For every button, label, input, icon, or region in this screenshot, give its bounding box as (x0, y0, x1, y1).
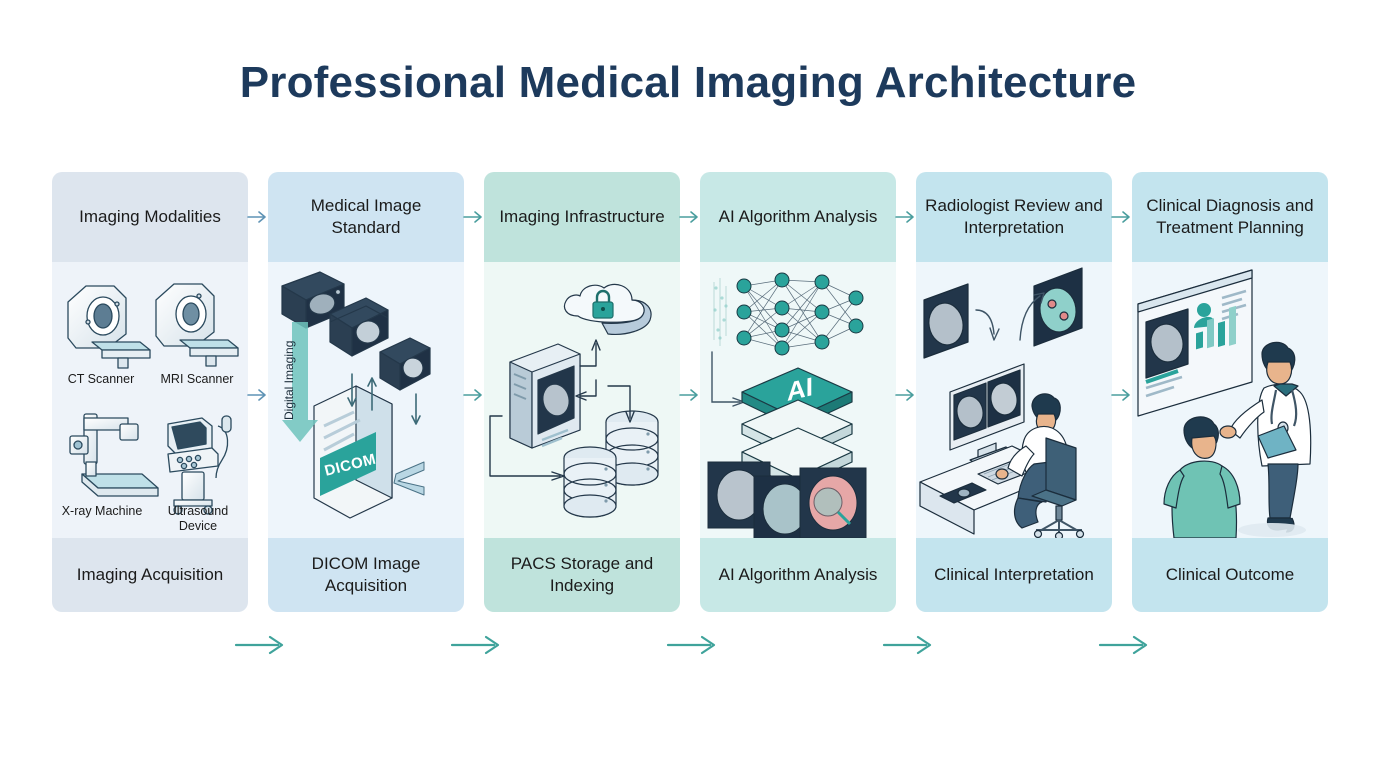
stage-header-ai-algorithm-analysis: AI Algorithm Analysis (700, 172, 896, 262)
bottom-arrow-3 (664, 628, 724, 662)
stage-footer-imaging-acquisition: Imaging Acquisition (52, 538, 248, 612)
arrow-right-icon (678, 206, 702, 228)
diagram-canvas: Professional Medical Imaging Architectur… (0, 0, 1376, 768)
stage-footer-pacs-storage: PACS Storage and Indexing (484, 538, 680, 612)
stage-footer-dicom-image-acquisition: DICOM Image Acquisition (268, 538, 464, 612)
stage-header-imaging-modalities: Imaging Modalities (52, 172, 248, 262)
dicom-artwork (268, 262, 464, 538)
connector-4-5 (896, 172, 916, 612)
arrow-right-icon (246, 384, 270, 406)
stage-footer-clinical-outcome: Clinical Outcome (1132, 538, 1328, 612)
stage-illustration-clinical-outcome (1132, 262, 1328, 538)
stage-illustration-ai: AI (700, 262, 896, 538)
arrow-right-icon (1110, 384, 1134, 406)
stage-illustration-radiologist (916, 262, 1112, 538)
stage-column-imaging-modalities[interactable]: Imaging Modalities (52, 172, 248, 612)
device-label-ultrasound-device: Ultrasound Device (152, 504, 244, 534)
bottom-progress-arrows (52, 628, 1326, 668)
connector-3-4 (680, 172, 700, 612)
arrow-right-icon (894, 384, 918, 406)
arrow-right-icon (1110, 206, 1134, 228)
stage-column-radiologist-review[interactable]: Radiologist Review and Interpretation (916, 172, 1112, 612)
stage-column-imaging-infrastructure[interactable]: Imaging Infrastructure (484, 172, 680, 612)
connector-5-6 (1112, 172, 1132, 612)
page-title: Professional Medical Imaging Architectur… (0, 58, 1376, 108)
arrow-right-icon (246, 206, 270, 228)
radiologist-artwork (916, 262, 1112, 538)
bottom-arrow-2 (448, 628, 508, 662)
bottom-arrow-5 (1096, 628, 1156, 662)
stage-footer-clinical-interpretation: Clinical Interpretation (916, 538, 1112, 612)
arrow-right-icon (462, 384, 486, 406)
arrow-right-icon (678, 384, 702, 406)
stage-illustration-imaging-modalities: CT Scanner MRI Scanner X-ray Machine Ult… (52, 262, 248, 538)
digital-imaging-label: Digital Imaging (282, 341, 296, 420)
device-label-mri-scanner: MRI Scanner (150, 372, 244, 387)
pipeline-flow: Imaging Modalities (52, 172, 1326, 612)
stage-header-clinical-diagnosis: Clinical Diagnosis and Treatment Plannin… (1132, 172, 1328, 262)
pacs-artwork (484, 262, 680, 538)
connector-1-2 (248, 172, 268, 612)
device-label-ct-scanner: CT Scanner (56, 372, 146, 387)
imaging-modalities-artwork (52, 262, 248, 538)
stage-column-medical-image-standard[interactable]: Medical Image Standard (268, 172, 464, 612)
bottom-arrow-4 (880, 628, 940, 662)
stage-column-ai-algorithm-analysis[interactable]: AI Algorithm Analysis (700, 172, 896, 612)
device-label-xray-machine: X-ray Machine (60, 504, 144, 519)
arrow-right-icon (462, 206, 486, 228)
stage-illustration-dicom: Digital Imaging DICOM (268, 262, 464, 538)
stage-header-imaging-infrastructure: Imaging Infrastructure (484, 172, 680, 262)
stage-illustration-pacs (484, 262, 680, 538)
stage-column-clinical-diagnosis[interactable]: Clinical Diagnosis and Treatment Plannin… (1132, 172, 1328, 612)
bottom-arrow-1 (232, 628, 292, 662)
stage-footer-ai-algorithm-analysis: AI Algorithm Analysis (700, 538, 896, 612)
connector-2-3 (464, 172, 484, 612)
clinical-outcome-artwork (1132, 262, 1328, 538)
stage-header-medical-image-standard: Medical Image Standard (268, 172, 464, 262)
stage-header-radiologist-review: Radiologist Review and Interpretation (916, 172, 1112, 262)
arrow-right-icon (894, 206, 918, 228)
